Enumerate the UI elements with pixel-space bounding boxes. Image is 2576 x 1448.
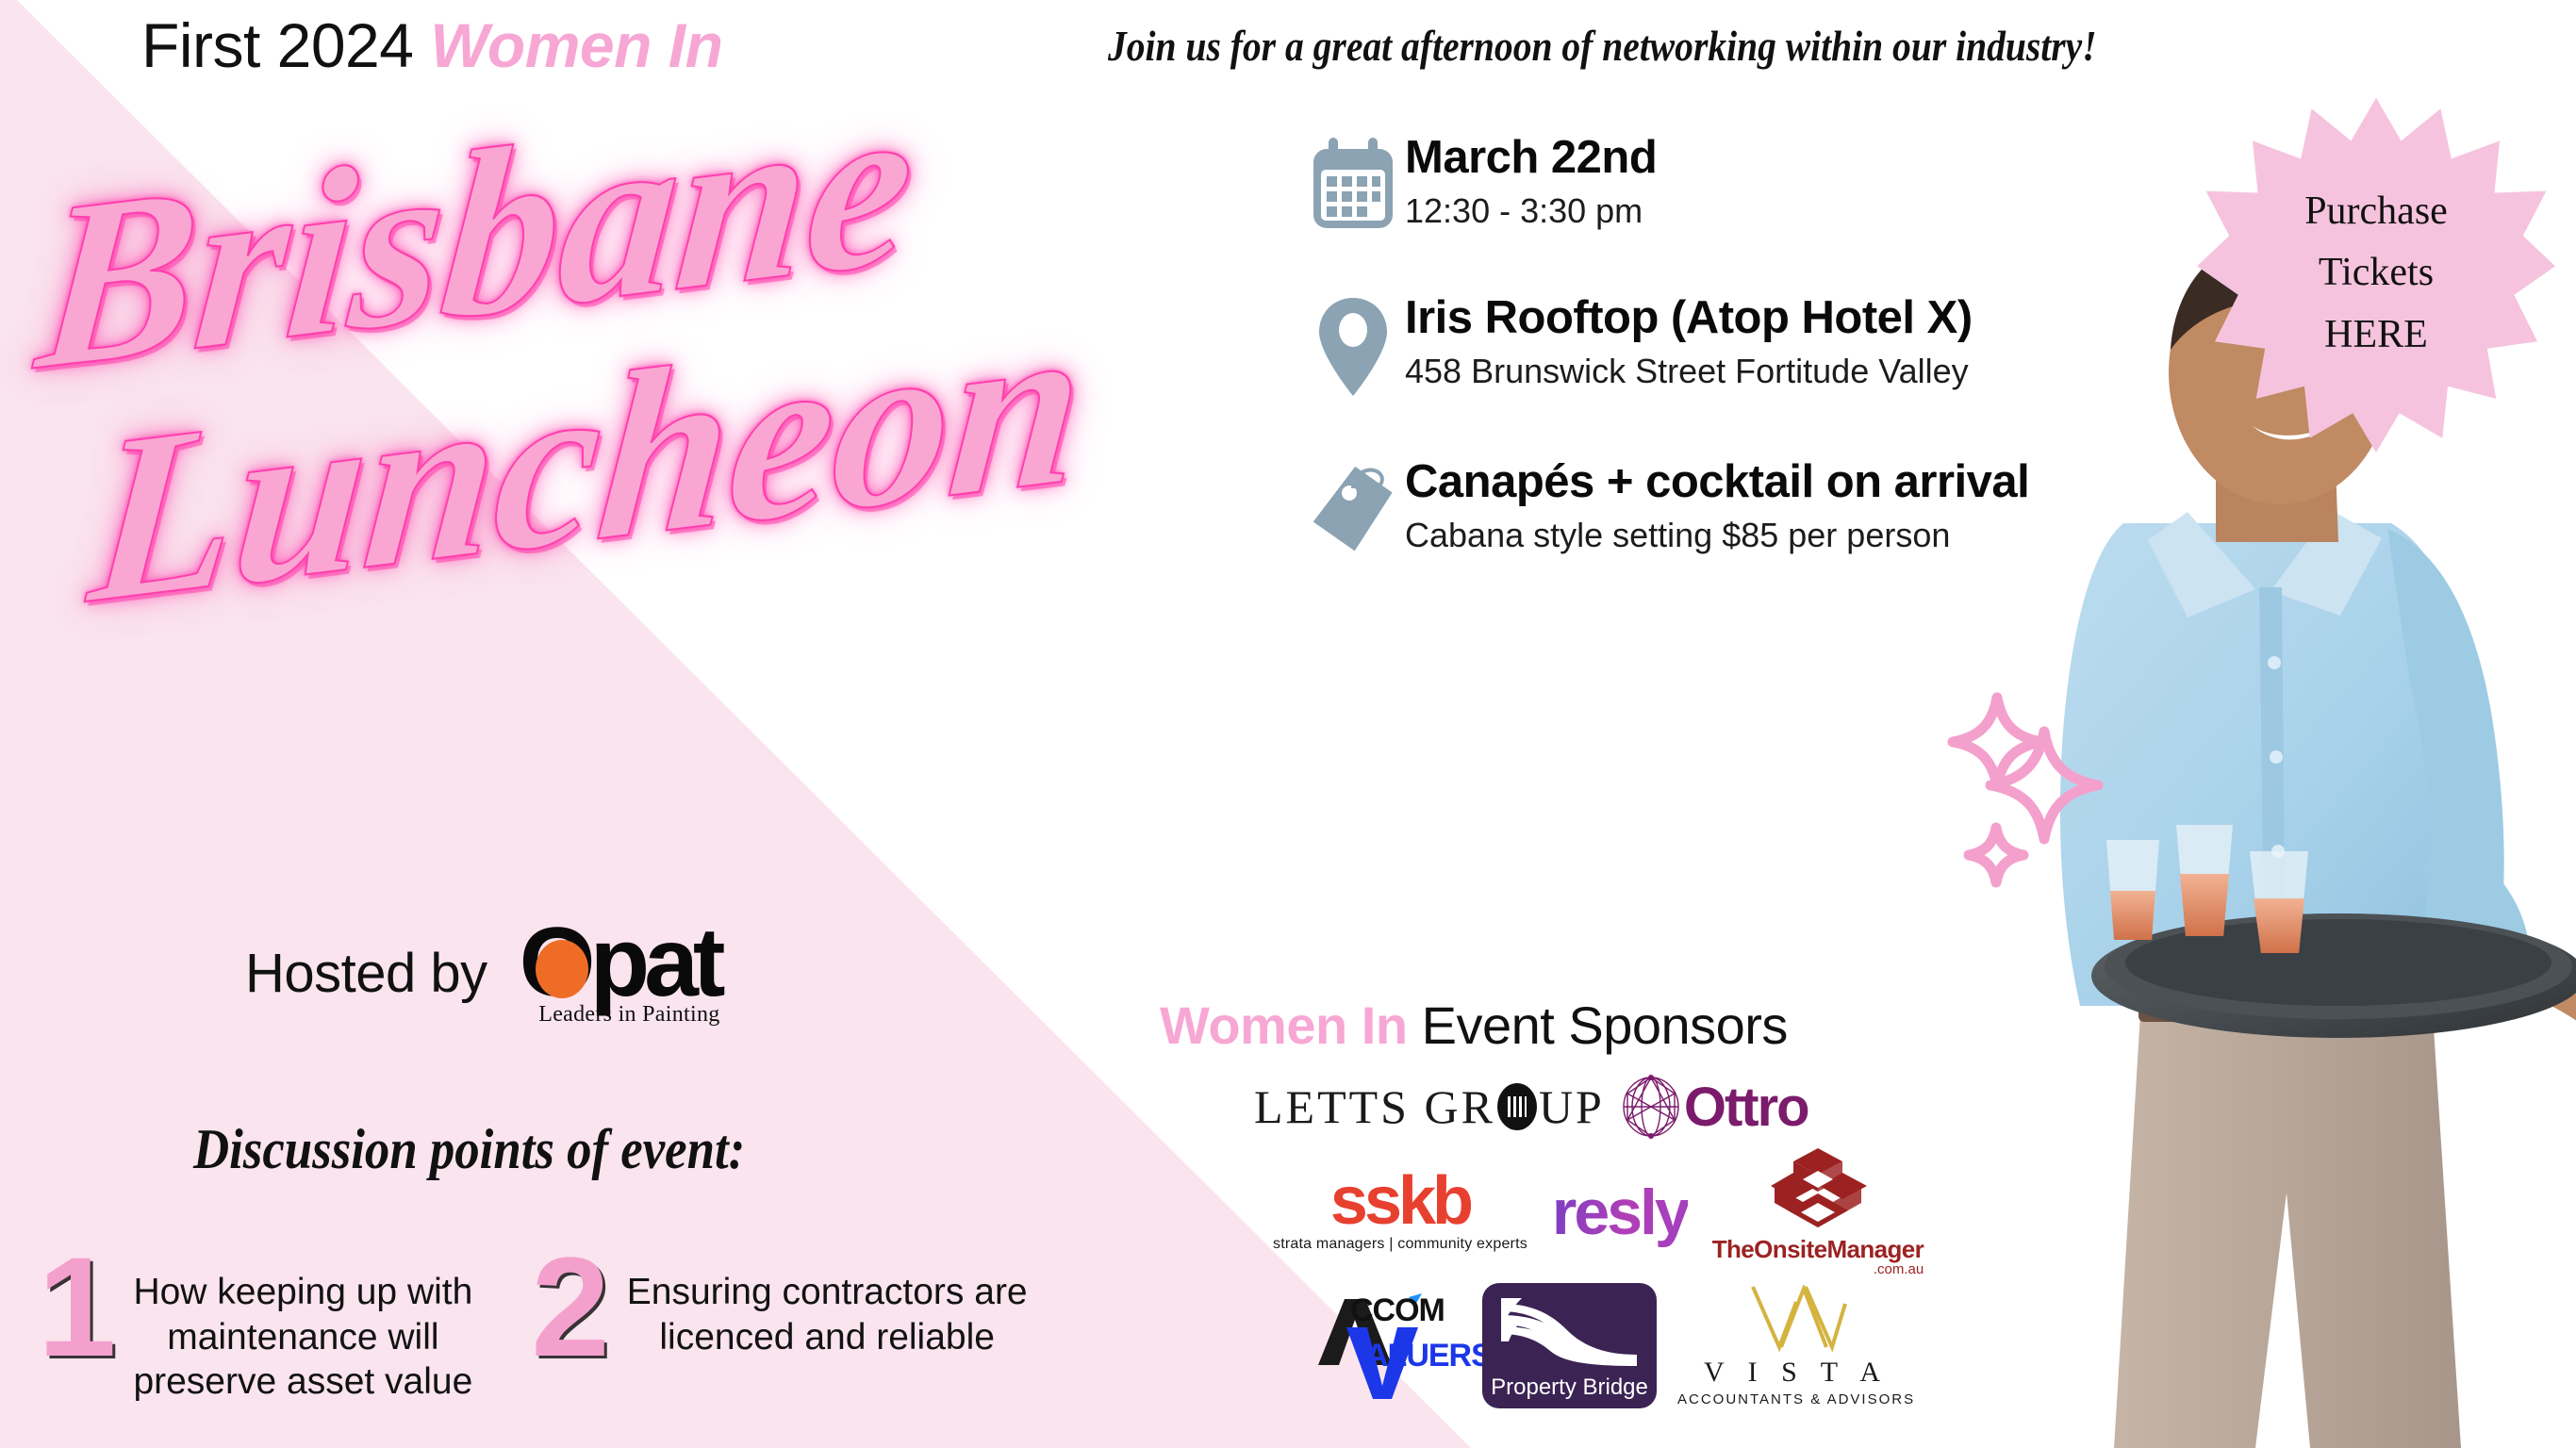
ottro-logo: Ottro xyxy=(1622,1075,1808,1139)
discussion-number: 1 xyxy=(38,1249,116,1365)
calendar-icon xyxy=(1301,132,1405,234)
sponsor-logos: LETTS GR UP Ottro xyxy=(1226,1075,2056,1408)
detail-title: Canapés + cocktail on arrival xyxy=(1405,458,2029,506)
sskb-wordmark: sskb xyxy=(1330,1171,1470,1232)
discussion-text: How keeping up with maintenance will pre… xyxy=(133,1249,472,1405)
sskb-tagline: strata managers | community experts xyxy=(1273,1236,1527,1253)
discussion-title: Discussion points of event: xyxy=(193,1117,745,1182)
sponsor-row-2: sskb strata managers | community experts… xyxy=(1273,1146,2056,1277)
letts-text-a: LETTS GR xyxy=(1254,1079,1495,1134)
vista-monogram-icon xyxy=(1740,1285,1853,1355)
vista-tagline: ACCOUNTANTS & ADVISORS xyxy=(1677,1391,1915,1407)
onsite-wordmark: TheOnsiteManager xyxy=(1712,1237,1924,1261)
hosted-by-label: Hosted by xyxy=(245,942,487,1005)
opat-wordmark: Opat xyxy=(520,919,720,1008)
sskb-logo: sskb strata managers | community experts xyxy=(1273,1171,1527,1253)
detail-row-date: March 22nd 12:30 - 3:30 pm xyxy=(1301,132,2169,234)
resly-logo: resly xyxy=(1552,1176,1688,1249)
detail-sub: Cabana style setting $85 per person xyxy=(1405,514,2029,557)
headline-accent: Women In xyxy=(430,10,722,80)
property-bridge-waves-icon xyxy=(1494,1292,1644,1368)
detail-row-venue: Iris Rooftop (Atop Hotel X) 458 Brunswic… xyxy=(1301,292,2169,398)
sponsor-row-3: CCOM ALUERS xyxy=(1311,1283,2056,1408)
property-bridge-logo: Property Bridge xyxy=(1482,1283,1657,1408)
discussion-points: 1 How keeping up with maintenance will p… xyxy=(38,1249,1028,1405)
opat-logo: Opat Leaders in Painting xyxy=(520,919,720,1028)
detail-sub: 12:30 - 3:30 pm xyxy=(1405,189,1657,233)
detail-title: Iris Rooftop (Atop Hotel X) xyxy=(1405,294,1973,342)
headline-plain: First 2024 xyxy=(141,10,430,80)
detail-text-date: March 22nd 12:30 - 3:30 pm xyxy=(1405,132,1657,234)
theonsitemanager-logo: TheOnsiteManager .com.au xyxy=(1712,1146,1924,1277)
sponsors-heading-accent: Women In xyxy=(1160,995,1408,1055)
letts-o-mark-icon xyxy=(1497,1083,1537,1130)
badge-line-1: Purchase xyxy=(2304,181,2448,242)
vista-wordmark: V I S T A xyxy=(1704,1357,1889,1389)
property-bridge-label: Property Bridge xyxy=(1491,1374,1648,1401)
page-title: First 2024 Women In xyxy=(141,9,722,81)
ottro-wordmark: Ottro xyxy=(1684,1076,1808,1139)
accom-text-top: CCOM xyxy=(1350,1295,1445,1325)
sponsor-row-1: LETTS GR UP Ottro xyxy=(1254,1075,2056,1139)
hosted-by-block: Hosted by Opat Leaders in Painting xyxy=(245,919,720,1028)
vista-logo: V I S T A ACCOUNTANTS & ADVISORS xyxy=(1677,1285,1915,1407)
letts-group-logo: LETTS GR UP xyxy=(1254,1079,1605,1134)
opat-o-letter: O xyxy=(520,919,590,1008)
event-details-list: March 22nd 12:30 - 3:30 pm Iris Rooftop … xyxy=(1301,132,2169,617)
detail-title: March 22nd xyxy=(1405,134,1657,182)
discussion-number: 2 xyxy=(531,1249,609,1365)
sponsors-heading: Women In Event Sponsors xyxy=(1160,995,1788,1056)
tagline: Join us for a great afternoon of network… xyxy=(1108,21,2097,71)
letts-text-b: UP xyxy=(1539,1079,1605,1134)
badge-text: Purchase Tickets HERE xyxy=(2197,90,2555,457)
detail-row-catering: Canapés + cocktail on arrival Cabana sty… xyxy=(1301,456,2169,558)
detail-text-catering: Canapés + cocktail on arrival Cabana sty… xyxy=(1405,456,2029,558)
purchase-tickets-badge[interactable]: Purchase Tickets HERE xyxy=(2197,90,2555,457)
sparkle-group xyxy=(1947,650,2230,900)
ottro-network-icon xyxy=(1622,1075,1680,1139)
sponsors-heading-plain: Event Sponsors xyxy=(1408,995,1788,1055)
badge-line-3: HERE xyxy=(2324,304,2428,366)
discussion-text: Ensuring contractors are licenced and re… xyxy=(627,1249,1028,1359)
event-poster: First 2024 Women In Join us for a great … xyxy=(0,0,2576,1448)
detail-sub: 458 Brunswick Street Fortitude Valley xyxy=(1405,350,1973,393)
badge-line-2: Tickets xyxy=(2319,242,2434,304)
opat-brand-rest: pat xyxy=(590,908,720,1017)
accom-text-bottom: ALUERS xyxy=(1365,1341,1492,1371)
discussion-point-1: 1 How keeping up with maintenance will p… xyxy=(38,1249,472,1405)
detail-text-venue: Iris Rooftop (Atop Hotel X) 458 Brunswic… xyxy=(1405,292,1973,394)
location-pin-icon xyxy=(1301,292,1405,398)
opat-orange-dot xyxy=(536,940,588,998)
discussion-point-2: 2 Ensuring contractors are licenced and … xyxy=(531,1249,1027,1365)
accom-valuers-logo: CCOM ALUERS xyxy=(1311,1292,1461,1400)
price-tag-icon xyxy=(1301,456,1405,558)
onsite-domain: .com.au xyxy=(1874,1261,1924,1277)
onsite-cubes-icon xyxy=(1767,1146,1869,1237)
